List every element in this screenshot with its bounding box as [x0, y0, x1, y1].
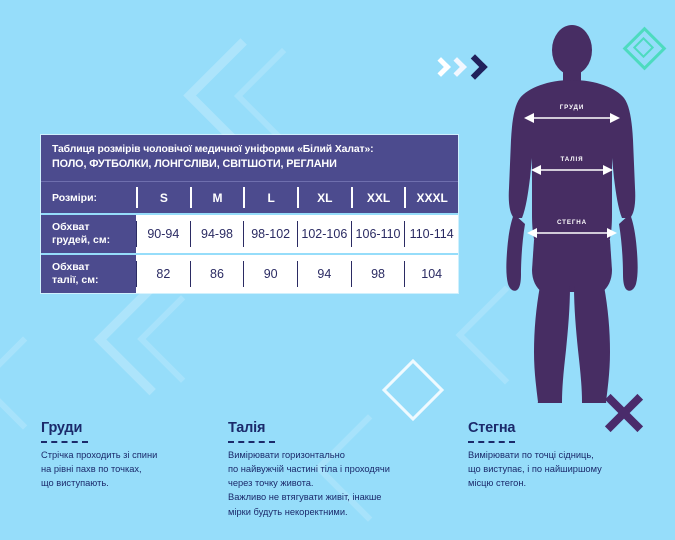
waist-value-xl: 94 [297, 261, 351, 287]
background-chevron-watermark-2 [234, 48, 330, 144]
table-title: Таблиця розмірів чоловічої медичної уніф… [41, 135, 458, 181]
info-text-waist-line5: мірки будуть некоректними. [228, 505, 463, 519]
chest-value-xxl: 106-110 [351, 221, 405, 247]
waist-value-xxxl: 104 [404, 261, 458, 287]
waist-value-l: 90 [243, 261, 297, 287]
info-text-chest-line3: що виступають. [41, 476, 226, 490]
info-text-waist-line1: Вимірювати горизонтально [228, 448, 463, 462]
size-chart-table: Таблиця розмірів чоловічої медичної уніф… [41, 135, 458, 293]
diamond-outline-white-icon [382, 359, 444, 421]
info-section-chest: Груди Стрічка проходить зі спини на рівн… [41, 420, 226, 490]
table-title-line2: ПОЛО, ФУТБОЛКИ, ЛОНГСЛІВИ, СВІТШОТИ, РЕГ… [52, 158, 447, 172]
measurement-label-hips: СТЕГНА [557, 219, 587, 226]
info-text-hips-line2: що виступає, і по найширшому [468, 462, 668, 476]
dashed-divider [41, 441, 88, 443]
chest-value-xl: 102-106 [297, 221, 351, 247]
info-text-waist-line2: по найвужчій частині тіла і проходячи [228, 462, 463, 476]
info-heading-chest: Груди [41, 420, 226, 436]
table-row-label-line1: Обхват [52, 261, 136, 274]
table-header-row: Розміри: S M L XL XXL XXXL [41, 181, 458, 213]
chest-value-s: 90-94 [136, 221, 190, 247]
info-text-waist-line4: Важливо не втягувати живіт, інакше [228, 490, 463, 504]
info-heading-waist: Талія [228, 420, 463, 436]
table-header-size-l: L [243, 187, 297, 208]
measurement-label-waist: ТАЛІЯ [561, 156, 584, 163]
waist-value-m: 86 [190, 261, 244, 287]
table-header-size-xl: XL [297, 187, 351, 208]
waist-value-s: 82 [136, 261, 190, 287]
background-chevron-watermark-3 [94, 284, 206, 396]
table-header-size-xxl: XXL [351, 187, 405, 208]
dashed-divider [468, 441, 515, 443]
measurement-label-chest: ГРУДИ [560, 104, 584, 111]
table-header-size-xxxl: XXXL [404, 187, 458, 208]
info-text-hips-line1: Вимірювати по точці сідниць, [468, 448, 668, 462]
table-title-line1: Таблиця розмірів чоловічої медичної уніф… [52, 143, 447, 156]
info-heading-hips: Стегна [468, 420, 668, 436]
table-row-label-waist: Обхват талії, см: [41, 255, 136, 293]
background-chevron-watermark-4 [137, 295, 225, 383]
table-row: Обхват грудей, см: 90-94 94-98 98-102 10… [41, 213, 458, 253]
waist-value-xxl: 98 [351, 261, 405, 287]
info-text-chest-line1: Стрічка проходить зі спини [41, 448, 226, 462]
info-text-chest-line2: на рівні пахв по точках, [41, 462, 226, 476]
info-text-waist-line3: через точку живота. [228, 476, 463, 490]
info-section-waist: Талія Вимірювати горизонтально по найвуж… [228, 420, 463, 519]
table-header-size-s: S [136, 187, 190, 208]
table-header-label: Розміри: [41, 182, 136, 213]
info-section-hips: Стегна Вимірювати по точці сідниць, що в… [468, 420, 668, 490]
table-row-label-line2: грудей, см: [52, 234, 136, 247]
dashed-divider [228, 441, 275, 443]
male-body-figure: ГРУДИ ТАЛІЯ СТЕГНА [470, 18, 675, 403]
table-row-label-line2: талії, см: [52, 274, 136, 287]
chest-value-m: 94-98 [190, 221, 244, 247]
chest-value-l: 98-102 [243, 221, 297, 247]
table-row: Обхват талії, см: 82 86 90 94 98 104 [41, 253, 458, 293]
info-text-hips-line3: місцю стегон. [468, 476, 668, 490]
table-header-size-m: M [190, 187, 244, 208]
background-chevron-watermark-5 [0, 336, 70, 429]
table-row-label-line1: Обхват [52, 221, 136, 234]
table-row-label-chest: Обхват грудей, см: [41, 215, 136, 253]
body-silhouette-icon [470, 18, 675, 403]
chest-value-xxxl: 110-114 [404, 221, 458, 247]
